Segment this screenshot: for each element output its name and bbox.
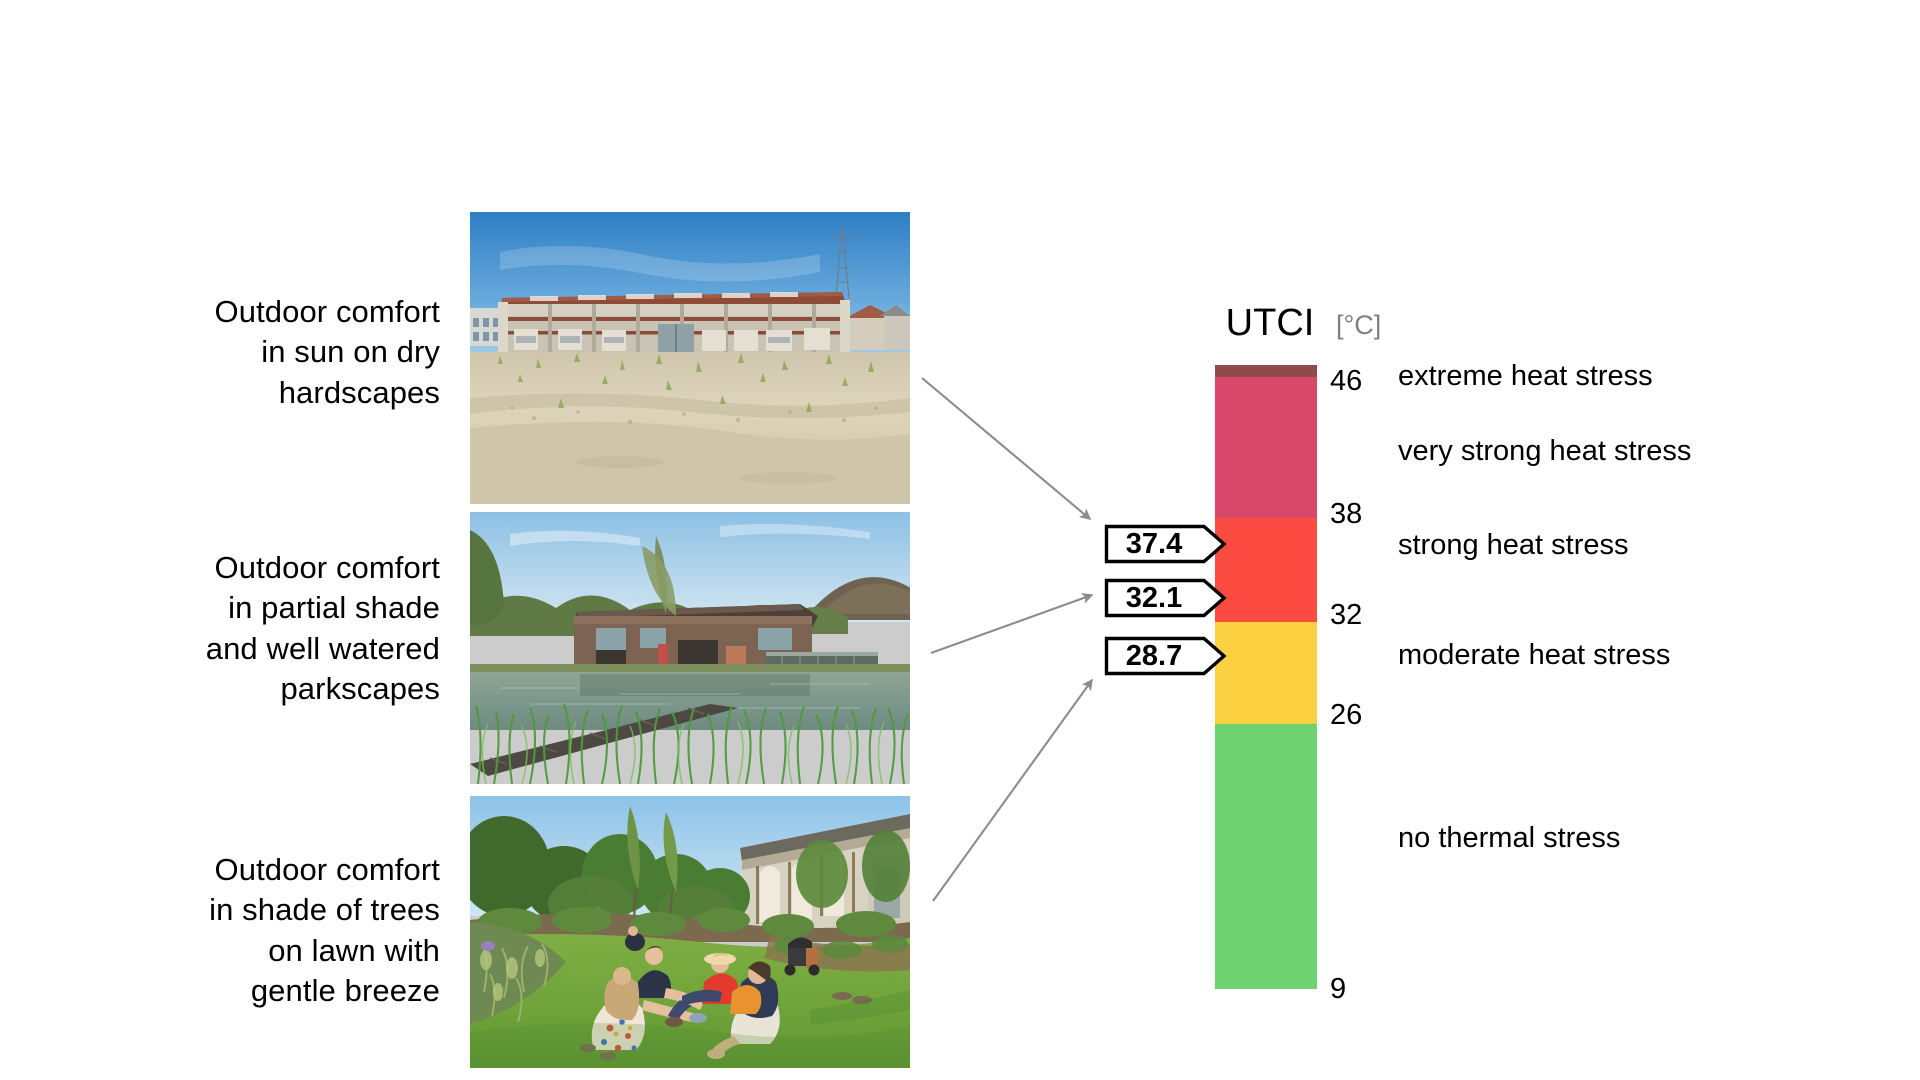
scale-title: UTCI xyxy=(1215,304,1325,342)
scale-unit-label: [°C] xyxy=(1336,312,1381,339)
band-strong-heat-stress xyxy=(1215,518,1317,622)
band-no-thermal-stress xyxy=(1215,724,1317,989)
arrow-to-32 xyxy=(931,595,1092,653)
band-extreme-heat-stress xyxy=(1215,365,1317,377)
arrow-to-28 xyxy=(933,680,1092,901)
band-moderate-heat-stress xyxy=(1215,622,1317,724)
tick-9: 9 xyxy=(1330,975,1386,1004)
callout-value-32: 32.1 xyxy=(1104,578,1228,618)
category-very-strong-heat-stress: very strong heat stress xyxy=(1398,437,1691,466)
photo-wetland-parkscape xyxy=(470,512,910,784)
callout-value-text: 28.7 xyxy=(1104,636,1204,676)
callout-value-text: 37.4 xyxy=(1104,524,1204,564)
caption-sun-hardscape: Outdoor comfort in sun on dry hardscapes xyxy=(60,292,440,413)
band-very-strong-heat-stress xyxy=(1215,377,1317,518)
photo-warehouse-dry-hardscape xyxy=(470,212,910,504)
tick-38: 38 xyxy=(1330,500,1386,529)
tick-32: 32 xyxy=(1330,601,1386,630)
infographic-canvas: Outdoor comfort in sun on dry hardscapes… xyxy=(0,0,1920,1080)
category-strong-heat-stress: strong heat stress xyxy=(1398,531,1629,560)
callout-value-28: 28.7 xyxy=(1104,636,1228,676)
utci-color-bar xyxy=(1215,365,1317,989)
category-extreme-heat-stress: extreme heat stress xyxy=(1398,362,1653,391)
photo-lawn-tree-shade xyxy=(470,796,910,1068)
callout-value-37: 37.4 xyxy=(1104,524,1228,564)
category-no-thermal-stress: no thermal stress xyxy=(1398,824,1620,853)
arrow-to-37 xyxy=(922,378,1090,519)
category-moderate-heat-stress: moderate heat stress xyxy=(1398,641,1670,670)
caption-partial-shade: Outdoor comfort in partial shade and wel… xyxy=(60,548,440,709)
callout-value-text: 32.1 xyxy=(1104,578,1204,618)
tick-26: 26 xyxy=(1330,701,1386,730)
caption-tree-shade: Outdoor comfort in shade of trees on law… xyxy=(60,850,440,1011)
tick-46: 46 xyxy=(1330,367,1386,396)
